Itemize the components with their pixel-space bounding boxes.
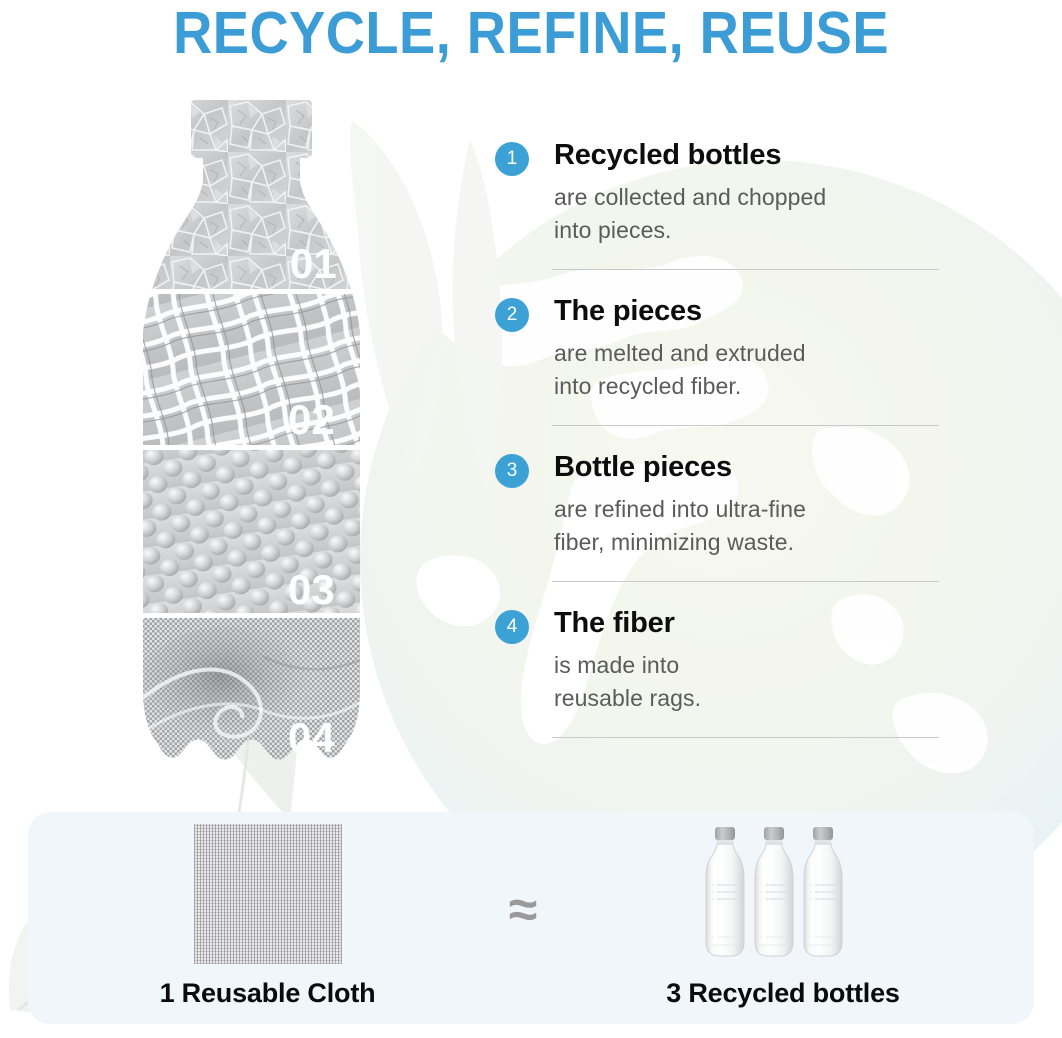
step-desc-3: are refined into ultra-fine fiber, minim… [554,493,935,559]
comparison-right-label: 3 Recycled bottles [573,978,993,1009]
step-title-2: The pieces [554,294,935,328]
step-desc-line-2: into pieces. [554,214,935,247]
step-desc-line-1: are melted and extruded [554,337,935,370]
step-desc-line-2: reusable rags. [554,682,935,715]
process-steps-list: 1 Recycled bottles are collected and cho… [495,138,935,738]
step-badge-3: 3 [495,454,529,488]
bottle-band-04 [112,618,390,800]
three-pet-bottles-icon [698,820,868,968]
step-title-4: The fiber [554,606,935,640]
infographic-page: RECYCLE, REFINE, REUSE [0,0,1062,1038]
bottle-band-03 [112,450,390,616]
comparison-left-label: 1 Reusable Cloth [90,978,445,1009]
cloth-swatch-wrap [90,820,445,968]
step-spacer [495,426,935,450]
comparison-panel: 1 Reusable Cloth ≈ [28,812,1034,1024]
step-title-3: Bottle pieces [554,450,935,484]
bottle-texture-bands [112,100,390,800]
step-desc-line-1: are refined into ultra-fine [554,493,935,526]
band-number-03: 03 [288,566,335,613]
step-divider-1 [552,269,939,270]
step-title-1: Recycled bottles [554,138,935,172]
step-desc-line-2: fiber, minimizing waste. [554,526,935,559]
pet-bottle-2 [755,827,793,956]
step-divider-4 [552,737,939,738]
step-item-1: 1 Recycled bottles are collected and cho… [495,138,935,270]
comparison-right-column: 3 Recycled bottles [573,820,993,1009]
bottles-art-wrap [573,820,993,968]
step-desc-line-2: into recycled fiber. [554,370,935,403]
step-divider-3 [552,581,939,582]
page-title: RECYCLE, REFINE, REUSE [0,2,1062,64]
band-number-01: 01 [290,240,337,287]
pet-bottle-3 [804,827,842,956]
step-spacer [495,582,935,606]
step-desc-4: is made into reusable rags. [554,649,935,715]
step-desc-line-1: are collected and chopped [554,181,935,214]
bottle-band-02 [112,294,390,448]
step-desc-2: are melted and extruded into recycled fi… [554,337,935,403]
step-desc-line-1: is made into [554,649,935,682]
woven-cloth-swatch-icon [194,824,342,964]
step-divider-2 [552,425,939,426]
step-item-3: 3 Bottle pieces are refined into ultra-f… [495,450,935,582]
bottle-band-01 [112,100,390,292]
step-badge-2: 2 [495,298,529,332]
band-number-04: 04 [288,714,335,761]
step-desc-1: are collected and chopped into pieces. [554,181,935,247]
step-spacer [495,270,935,294]
step-badge-1: 1 [495,142,529,176]
band-number-02: 02 [288,396,335,443]
bottle-silhouette-figure: 01 02 03 04 [112,100,390,800]
step-item-4: 4 The fiber is made into reusable rags. [495,606,935,738]
comparison-left-column: 1 Reusable Cloth [90,820,445,1009]
approximately-equal-symbol: ≈ [483,884,563,936]
step-badge-4: 4 [495,610,529,644]
page-title-text: RECYCLE, REFINE, REUSE [173,2,889,64]
step-item-2: 2 The pieces are melted and extruded int… [495,294,935,426]
pet-bottle-1 [706,827,744,956]
